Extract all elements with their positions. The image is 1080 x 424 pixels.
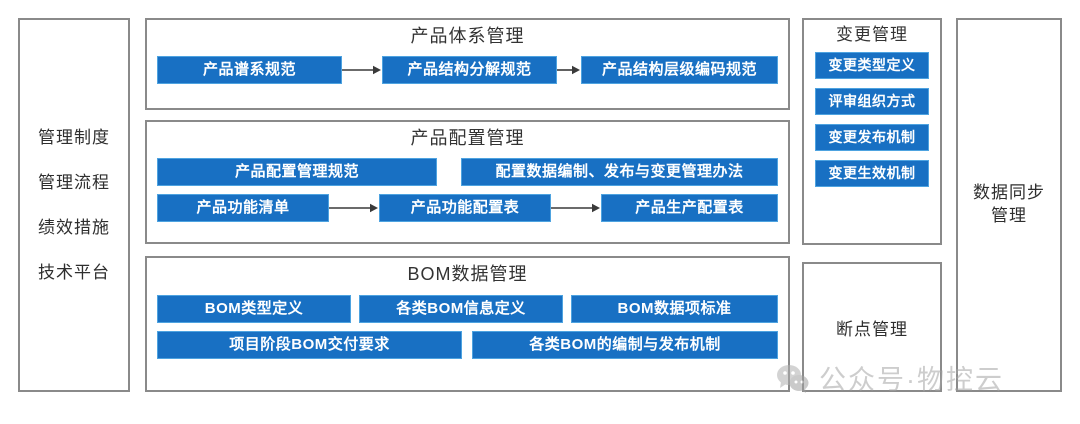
section-row: BOM类型定义 各类BOM信息定义 BOM数据项标准 (157, 295, 778, 323)
change-items-list: 变更类型定义 评审组织方式 变更发布机制 变更生效机制 (804, 52, 940, 187)
arrow-connector-icon (342, 65, 382, 75)
section-bom-data: BOM数据管理 BOM类型定义 各类BOM信息定义 BOM数据项标准 项目阶段B… (145, 256, 790, 392)
node-box[interactable]: 变更类型定义 (815, 52, 929, 79)
pillar-item-2: 绩效措施 (38, 219, 110, 236)
arrow-connector-icon (329, 203, 379, 213)
node-box[interactable]: 产品结构分解规范 (382, 56, 557, 84)
panel-title-line-2: 管理 (991, 206, 1027, 225)
node-box[interactable]: 评审组织方式 (815, 88, 929, 115)
node-box[interactable]: 产品功能清单 (157, 194, 329, 222)
section-row: 项目阶段BOM交付要求 各类BOM的编制与发布机制 (157, 331, 778, 359)
section-row: 产品配置管理规范 配置数据编制、发布与变更管理办法 (157, 158, 778, 186)
node-box[interactable]: 各类BOM的编制与发布机制 (472, 331, 778, 359)
node-box[interactable]: 产品结构层级编码规范 (581, 56, 778, 84)
node-box[interactable]: 项目阶段BOM交付要求 (157, 331, 462, 359)
section-row: 产品谱系规范 产品结构分解规范 产品结构层级编码规范 (157, 56, 778, 84)
node-box[interactable]: BOM数据项标准 (571, 295, 778, 323)
section-title-product-config: 产品配置管理 (147, 129, 788, 149)
panel-title-line-1: 数据同步 (973, 183, 1045, 202)
pillar-item-3: 技术平台 (38, 264, 110, 281)
node-box[interactable]: BOM类型定义 (157, 295, 351, 323)
panel-title-change-management: 变更管理 (804, 26, 940, 45)
section-title-product-system: 产品体系管理 (147, 27, 788, 47)
pillar-item-1: 管理流程 (38, 174, 110, 191)
node-box[interactable]: 配置数据编制、发布与变更管理办法 (461, 158, 778, 186)
panel-change-management: 变更管理 变更类型定义 评审组织方式 变更发布机制 变更生效机制 (802, 18, 942, 245)
node-box[interactable]: 产品生产配置表 (601, 194, 778, 222)
pillars-panel: 管理制度 管理流程 绩效措施 技术平台 (18, 18, 130, 392)
arrow-connector-icon (551, 203, 601, 213)
node-box[interactable]: 变更发布机制 (815, 124, 929, 151)
diagram-canvas: 管理制度 管理流程 绩效措施 技术平台 产品体系管理 产品谱系规范 产品结构分解… (0, 0, 1080, 424)
arrow-connector-icon (557, 65, 581, 75)
pillar-item-0: 管理制度 (38, 129, 110, 146)
node-box[interactable]: 产品功能配置表 (379, 194, 551, 222)
node-box[interactable]: 各类BOM信息定义 (359, 295, 563, 323)
panel-title-data-sync-management: 数据同步 管理 (973, 182, 1045, 228)
node-box[interactable]: 产品谱系规范 (157, 56, 342, 84)
section-row: 产品功能清单 产品功能配置表 产品生产配置表 (157, 194, 778, 222)
section-product-system: 产品体系管理 产品谱系规范 产品结构分解规范 产品结构层级编码规范 (145, 18, 790, 110)
section-product-config: 产品配置管理 产品配置管理规范 配置数据编制、发布与变更管理办法 产品功能清单 … (145, 120, 790, 244)
panel-breakpoint-management: 断点管理 (802, 262, 942, 392)
node-box[interactable]: 产品配置管理规范 (157, 158, 437, 186)
panel-title-breakpoint-management: 断点管理 (836, 315, 908, 340)
section-title-bom-data: BOM数据管理 (147, 265, 788, 285)
node-box[interactable]: 变更生效机制 (815, 160, 929, 187)
panel-data-sync-management: 数据同步 管理 (956, 18, 1062, 392)
